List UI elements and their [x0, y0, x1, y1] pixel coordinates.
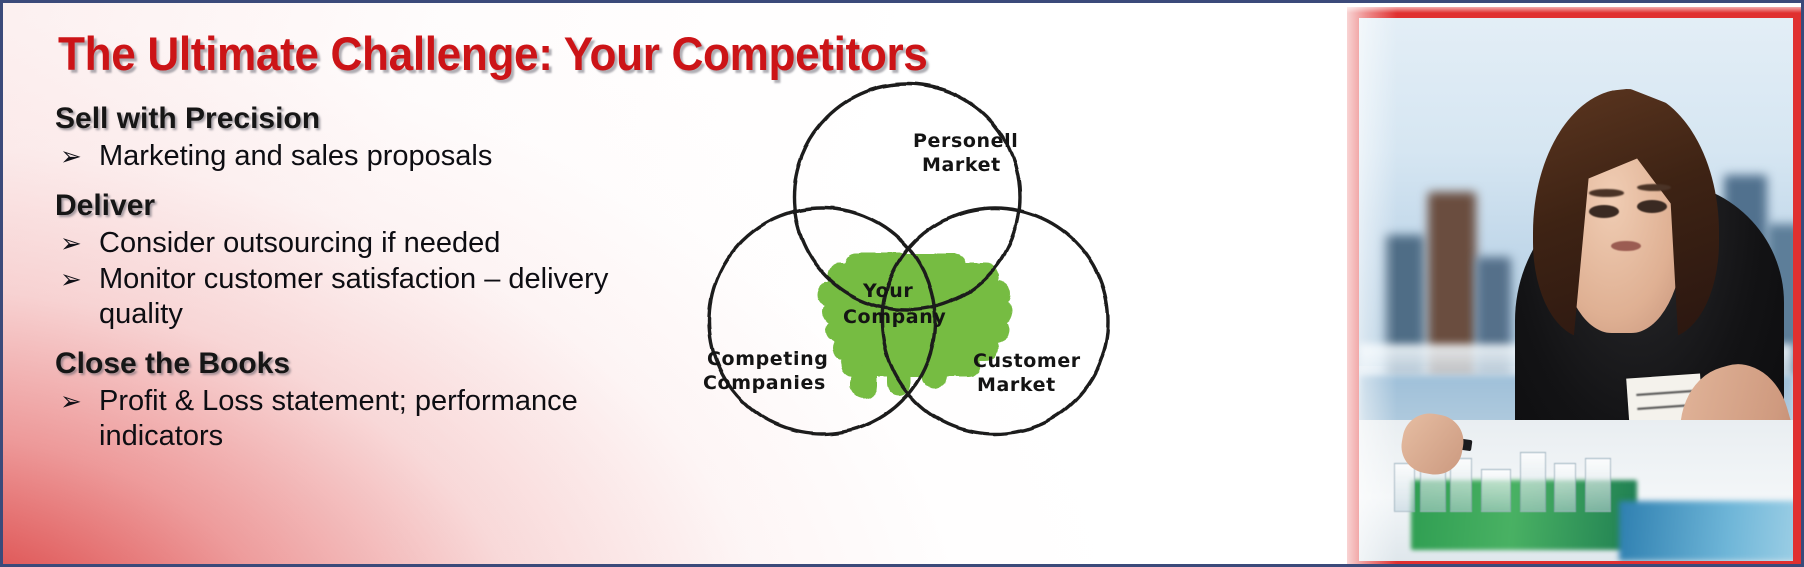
photo-panel [1317, 3, 1801, 567]
list-item-label: Marketing and sales proposals [99, 139, 675, 174]
venn-label-line: Company [843, 306, 946, 328]
list-item: ➢ Monitor customer satisfaction – delive… [55, 262, 675, 332]
bullet-arrow-icon: ➢ [55, 226, 99, 261]
spacer [55, 334, 675, 344]
photo-glass-block [1520, 452, 1546, 512]
content-list: Sell with Precision ➢ Marketing and sale… [55, 99, 675, 456]
photo-glass-block [1554, 463, 1576, 512]
section-heading: Sell with Precision [55, 99, 675, 138]
section-close-the-books: Close the Books ➢ Profit & Loss statemen… [55, 344, 675, 454]
bullet-arrow-icon: ➢ [55, 139, 99, 174]
bullet-arrow-icon: ➢ [55, 262, 99, 297]
venn-label-line: Personell [913, 130, 1018, 152]
list-item-label: Consider outsourcing if needed [99, 226, 675, 261]
photo-person-eye [1637, 200, 1667, 213]
bullet-arrow-icon: ➢ [55, 384, 99, 419]
venn-diagram: Personell Market Competing Companies Cus… [675, 65, 1145, 485]
section-heading: Close the Books [55, 344, 675, 383]
photo-person-brow [1589, 189, 1624, 197]
photo-glass-block [1585, 458, 1611, 512]
section-sell-with-precision: Sell with Precision ➢ Marketing and sale… [55, 99, 675, 174]
section-deliver: Deliver ➢ Consider outsourcing if needed… [55, 186, 675, 332]
list-item-label: Monitor customer satisfaction – delivery… [99, 262, 675, 332]
venn-label-line: Companies [703, 372, 826, 394]
photo-blue-model [1619, 501, 1793, 561]
label-personell-market: Personell Market [913, 130, 1018, 176]
list-item: ➢ Consider outsourcing if needed [55, 226, 675, 261]
list-item: ➢ Marketing and sales proposals [55, 139, 675, 174]
photo-red-frame [1347, 7, 1801, 567]
venn-label-line: Customer [973, 350, 1081, 372]
photo-glass-block [1481, 469, 1511, 512]
list-item: ➢ Profit & Loss statement; performance i… [55, 384, 675, 454]
section-heading: Deliver [55, 186, 675, 225]
photo-image [1359, 18, 1793, 561]
photo-glass-block [1394, 463, 1416, 512]
slide-canvas: The Ultimate Challenge: Your Competitors… [0, 0, 1804, 567]
venn-label-line: Market [922, 154, 1001, 176]
label-customer-market: Customer Market [973, 350, 1081, 396]
spacer [55, 176, 675, 186]
list-item-label: Profit & Loss statement; performance ind… [99, 384, 675, 454]
venn-label-line: Competing [707, 348, 828, 370]
venn-label-line: Your [862, 280, 913, 302]
venn-label-line: Market [977, 374, 1056, 396]
